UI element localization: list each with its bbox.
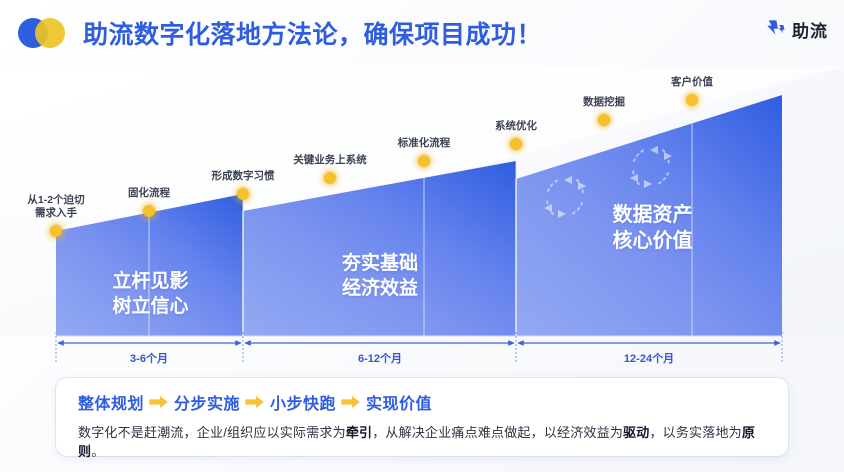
chart-node-label: 从1-2个迫切需求入手 (25, 194, 87, 220)
right-arrow-icon (148, 395, 170, 409)
methodology-chart: 从1-2个迫切需求入手 固化流程 形成数字习惯 关键业务上系统 标准化流程 系统… (0, 66, 844, 366)
node-dot (50, 225, 62, 237)
right-arrow-icon (340, 395, 362, 409)
header: 助流数字化落地方法论，确保项目成功！ 助流 (0, 0, 844, 66)
lightning-bolt-icon (765, 19, 787, 41)
summary-keyword-1: 牵引 (346, 425, 372, 440)
process-step-1: 整体规划 (78, 390, 144, 414)
summary-text-2: ，从解决企业痛点难点做起，以经济效益为 (372, 425, 623, 440)
node-dot (143, 205, 155, 217)
node-dot (237, 188, 249, 200)
stage-headline-1: 立杆见影 树立信心 (68, 269, 233, 319)
page-title: 助流数字化落地方法论，确保项目成功！ (83, 15, 542, 51)
brand-mark: 助流 (765, 17, 828, 42)
cycle-arrows-icon (620, 136, 682, 198)
node-dot (418, 155, 430, 167)
summary-text-4: 。 (91, 444, 104, 459)
timeline-label-3: 12-24个月 (624, 350, 674, 366)
slide-root: 助流数字化落地方法论，确保项目成功！ 助流 (0, 0, 844, 472)
timeline-axis: 3-6个月 6-12个月 12-24个月 (0, 330, 844, 376)
process-step-2: 分步实施 (174, 390, 240, 414)
node-dot (598, 114, 610, 126)
summary-card: 整体规划 分步实施 小步快跑 实现价值 数字化不是赶潮流，企业/组织应以实际需求… (56, 378, 788, 456)
process-step-3: 小步快跑 (270, 390, 336, 414)
process-steps: 整体规划 分步实施 小步快跑 实现价值 (78, 390, 766, 414)
cycle-arrows-icon (534, 166, 596, 228)
two-overlapping-circles-logo (18, 18, 66, 48)
summary-text-3: ，以务实落地为 (649, 425, 741, 440)
logo-circle-gold (35, 18, 65, 48)
summary-paragraph: 数字化不是赶潮流，企业/组织应以实际需求为牵引，从解决企业痛点难点做起，以经济效… (78, 423, 766, 461)
right-arrow-icon (244, 395, 266, 409)
summary-keyword-2: 驱动 (623, 425, 649, 440)
timeline-label-1: 3-6个月 (130, 350, 168, 366)
brand-name: 助流 (792, 17, 828, 42)
node-dot (510, 138, 522, 150)
timeline-label-2: 6-12个月 (358, 350, 402, 366)
node-dot (324, 172, 336, 184)
stage-headline-2: 夯实基础 经济效益 (290, 251, 470, 301)
node-dot (686, 94, 698, 106)
timeline-axis-svg (0, 330, 844, 376)
process-step-4: 实现价值 (366, 390, 432, 414)
summary-text-1: 数字化不是赶潮流，企业/组织应以实际需求为 (78, 425, 346, 440)
